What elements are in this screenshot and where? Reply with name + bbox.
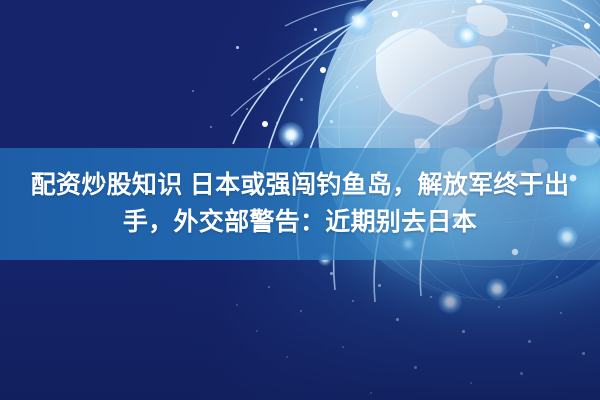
- headline-line-1: 配资炒股知识 日本或强闯钓鱼岛，解放军终于出: [31, 168, 570, 204]
- banner-image: 配资炒股知识 日本或强闯钓鱼岛，解放军终于出 手，外交部警告：近期别去日本: [0, 0, 600, 400]
- headline-line-2: 手，外交部警告：近期别去日本: [123, 205, 477, 241]
- headline-text: 配资炒股知识 日本或强闯钓鱼岛，解放军终于出 手，外交部警告：近期别去日本: [0, 148, 600, 260]
